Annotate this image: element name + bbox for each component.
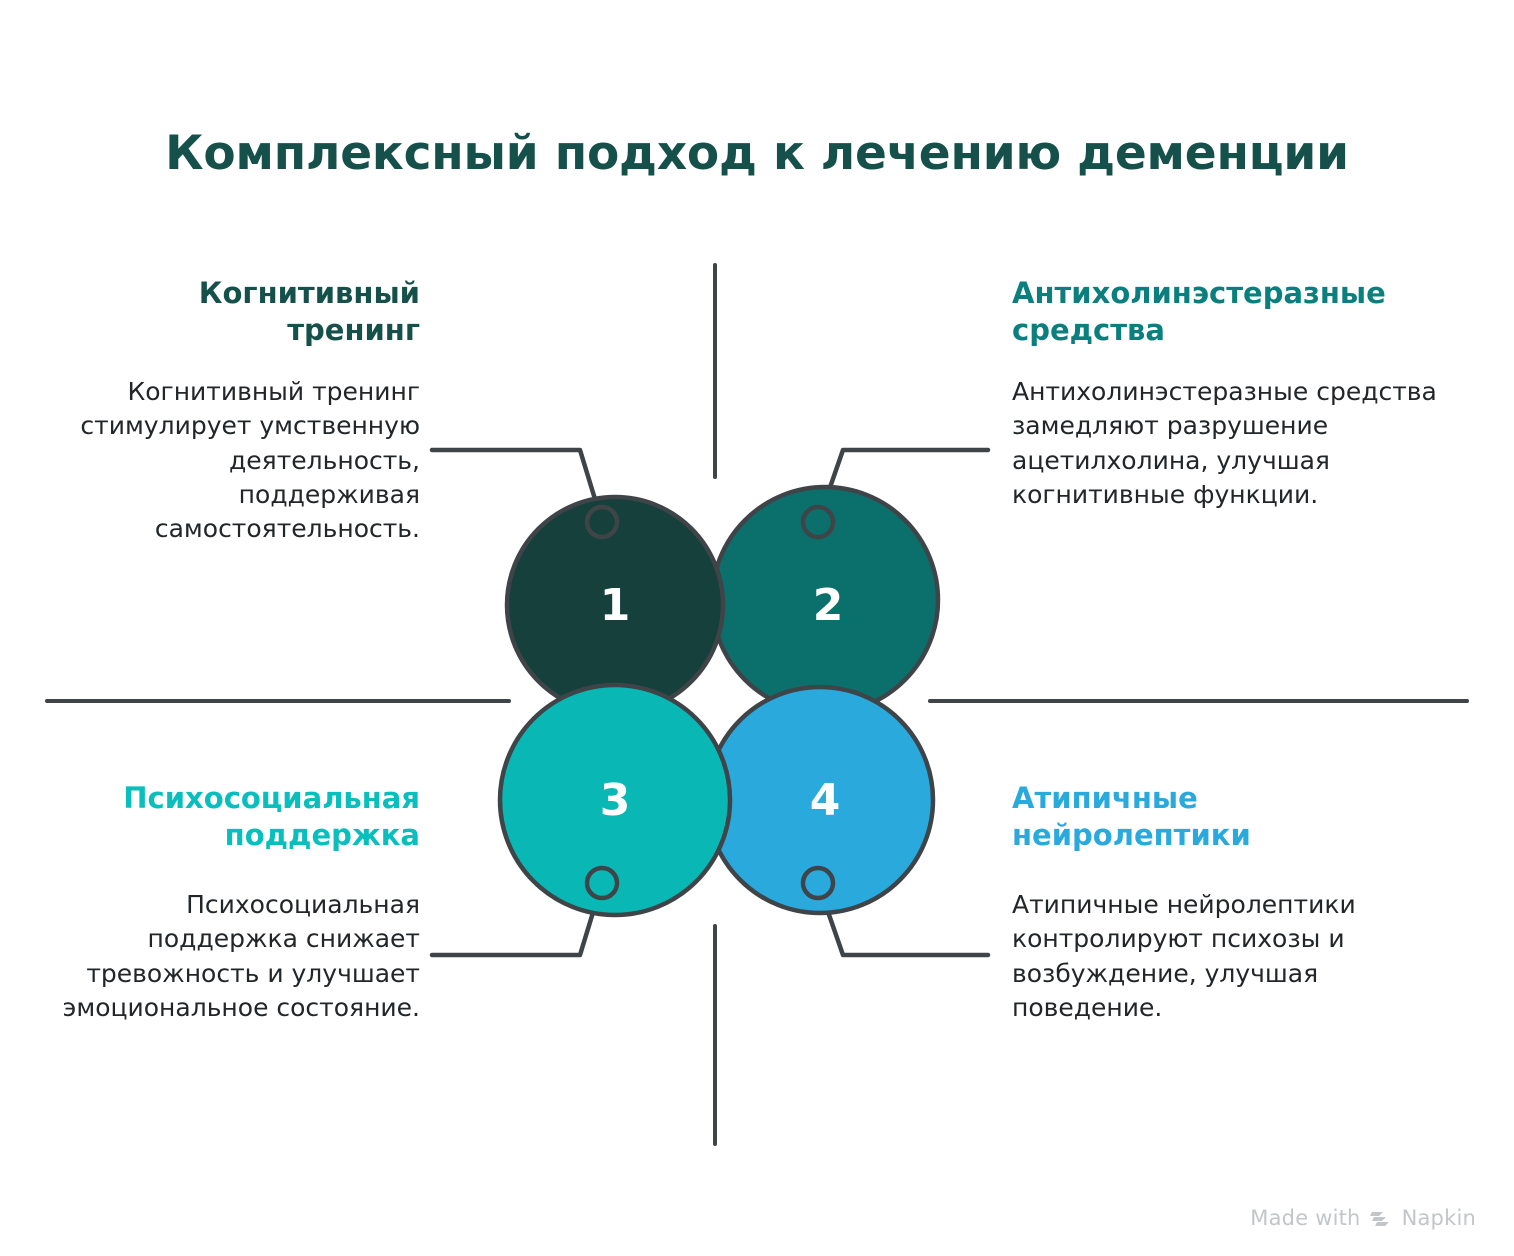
quadrant-3-body: Психосоциальная поддержка снижает тревож… bbox=[60, 888, 420, 1025]
circle-cluster-diagram: 1 2 3 4 bbox=[400, 430, 1020, 990]
circle-number-1: 1 bbox=[600, 580, 631, 631]
quadrant-1-body: Когнитивный тренинг стимулирует умственн… bbox=[60, 375, 420, 546]
watermark: Made with Napkin bbox=[1250, 1206, 1476, 1230]
quadrant-3-heading: Психосоциальная поддержка bbox=[60, 780, 420, 854]
page-title: Комплексный подход к лечению деменции bbox=[0, 127, 1514, 181]
quadrant-4: Атипичные нейролептики Атипичные нейроле… bbox=[1012, 780, 1372, 1025]
napkin-logo-icon bbox=[1370, 1208, 1393, 1229]
circle-number-3: 3 bbox=[600, 775, 631, 826]
quadrant-4-body: Атипичные нейролептики контролируют псих… bbox=[1012, 888, 1372, 1025]
infographic-canvas: Комплексный подход к лечению деменции Ко… bbox=[0, 0, 1514, 1256]
quadrant-1: Когнитивный тренинг Когнитивный тренинг … bbox=[60, 275, 420, 546]
circle-number-4: 4 bbox=[810, 775, 841, 826]
quadrant-2: Антихолинэстеразные средства Антихолинэс… bbox=[1012, 275, 1452, 512]
watermark-prefix: Made with bbox=[1250, 1206, 1360, 1230]
watermark-brand: Napkin bbox=[1402, 1206, 1476, 1230]
quadrant-2-body: Антихолинэстеразные средства замедляют р… bbox=[1012, 375, 1452, 512]
quadrant-2-heading: Антихолинэстеразные средства bbox=[1012, 275, 1452, 349]
circle-number-2: 2 bbox=[813, 580, 844, 631]
quadrant-1-heading: Когнитивный тренинг bbox=[60, 275, 420, 349]
quadrant-3: Психосоциальная поддержка Психосоциальна… bbox=[60, 780, 420, 1025]
quadrant-4-heading: Атипичные нейролептики bbox=[1012, 780, 1372, 854]
